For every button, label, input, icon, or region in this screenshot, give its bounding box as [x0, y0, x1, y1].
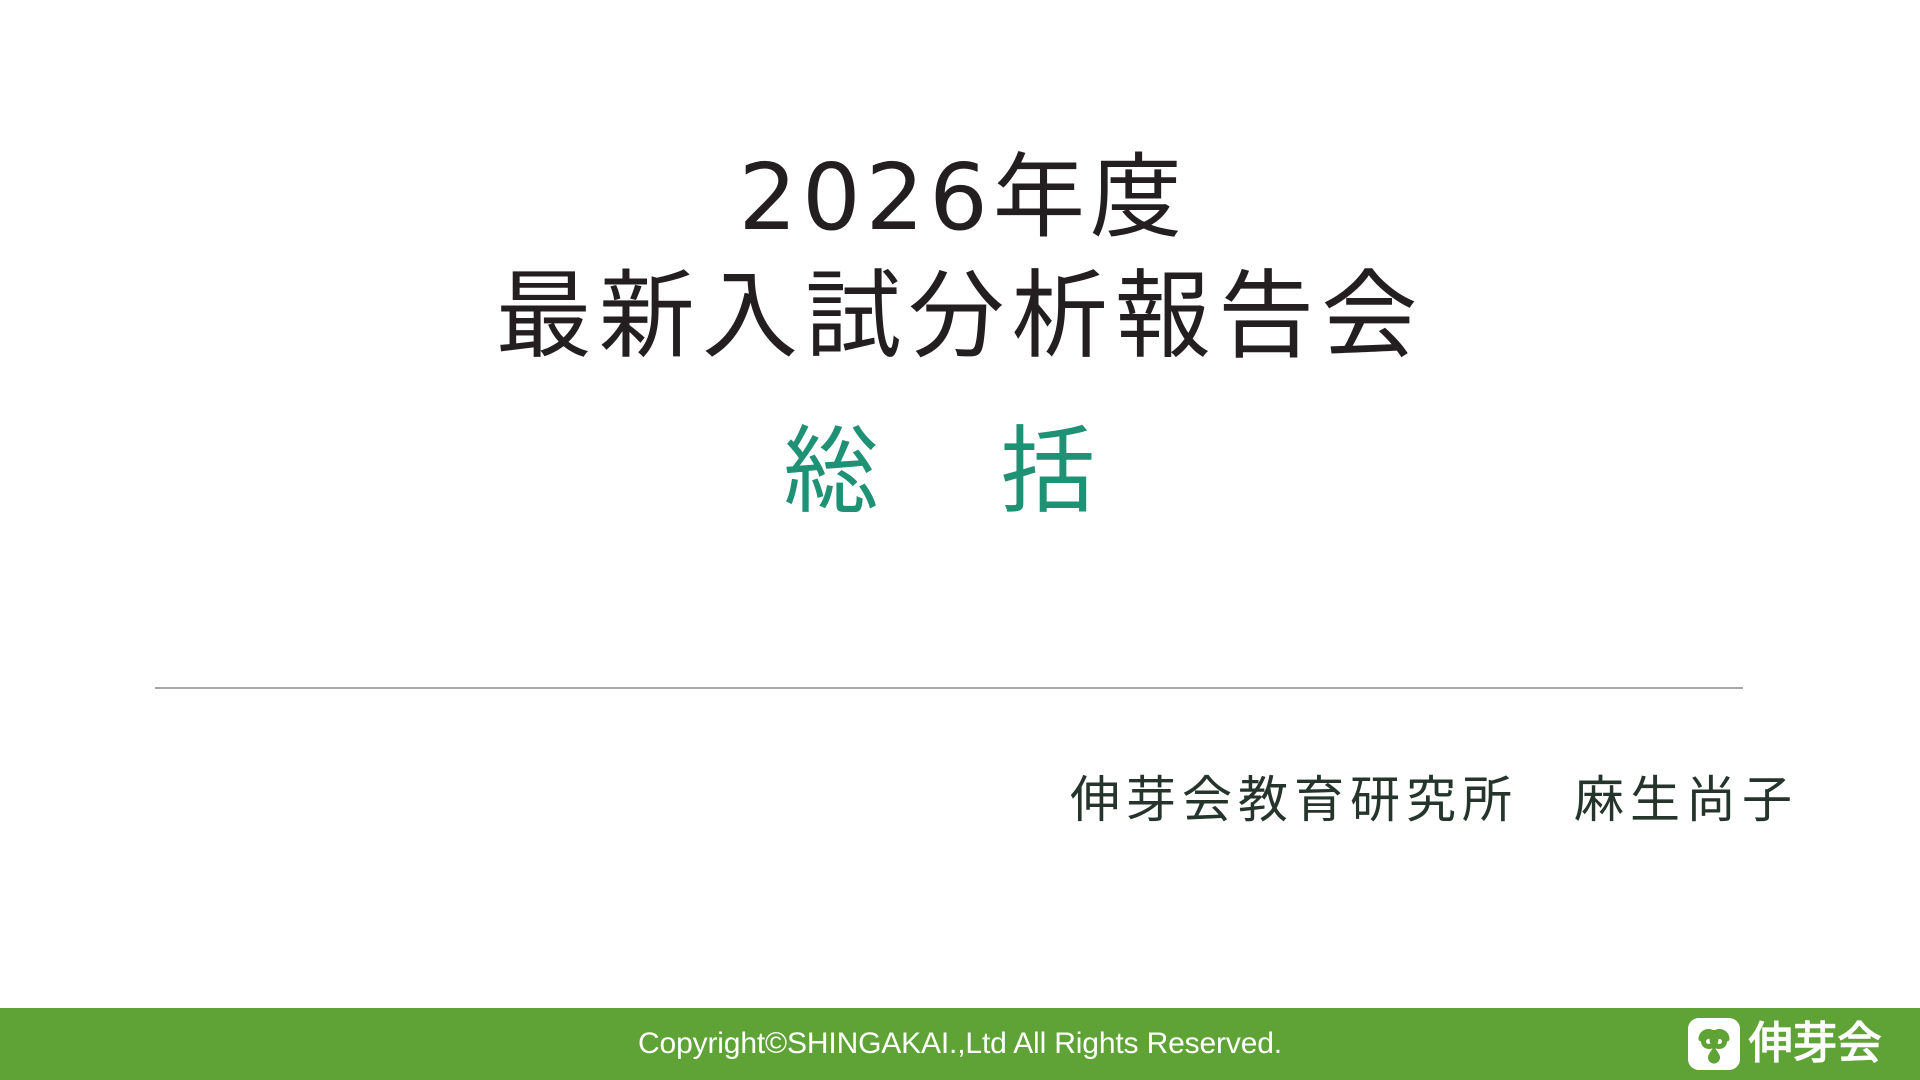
brand-wordmark: 伸芽会 [1749, 1022, 1882, 1066]
page-title: 2026年度 最新入試分析報告会 [0, 138, 1920, 378]
horizontal-divider [155, 687, 1743, 689]
slide-root: 2026年度 最新入試分析報告会 総 括 伸芽会教育研究所 麻生尚子 Copyr… [0, 0, 1920, 1080]
subtitle-text: 総 括 [784, 415, 1109, 529]
footer-bar: Copyright©SHINGAKAI.,Ltd All Rights Rese… [0, 1008, 1920, 1080]
title-line-year: 2026年度 [6, 138, 1920, 258]
presenter-name: 伸芽会教育研究所 麻生尚子 [1070, 760, 1798, 832]
brand-logo: 伸芽会 [1688, 1018, 1882, 1070]
copyright-text: Copyright©SHINGAKAI.,Ltd All Rights Rese… [638, 1027, 1282, 1061]
subtitle-container: 総 括 [0, 415, 1920, 529]
sprout-logo-icon [1688, 1018, 1740, 1070]
title-line-main: 最新入試分析報告会 [0, 254, 1920, 379]
presenter-container: 伸芽会教育研究所 麻生尚子 [0, 760, 1920, 832]
